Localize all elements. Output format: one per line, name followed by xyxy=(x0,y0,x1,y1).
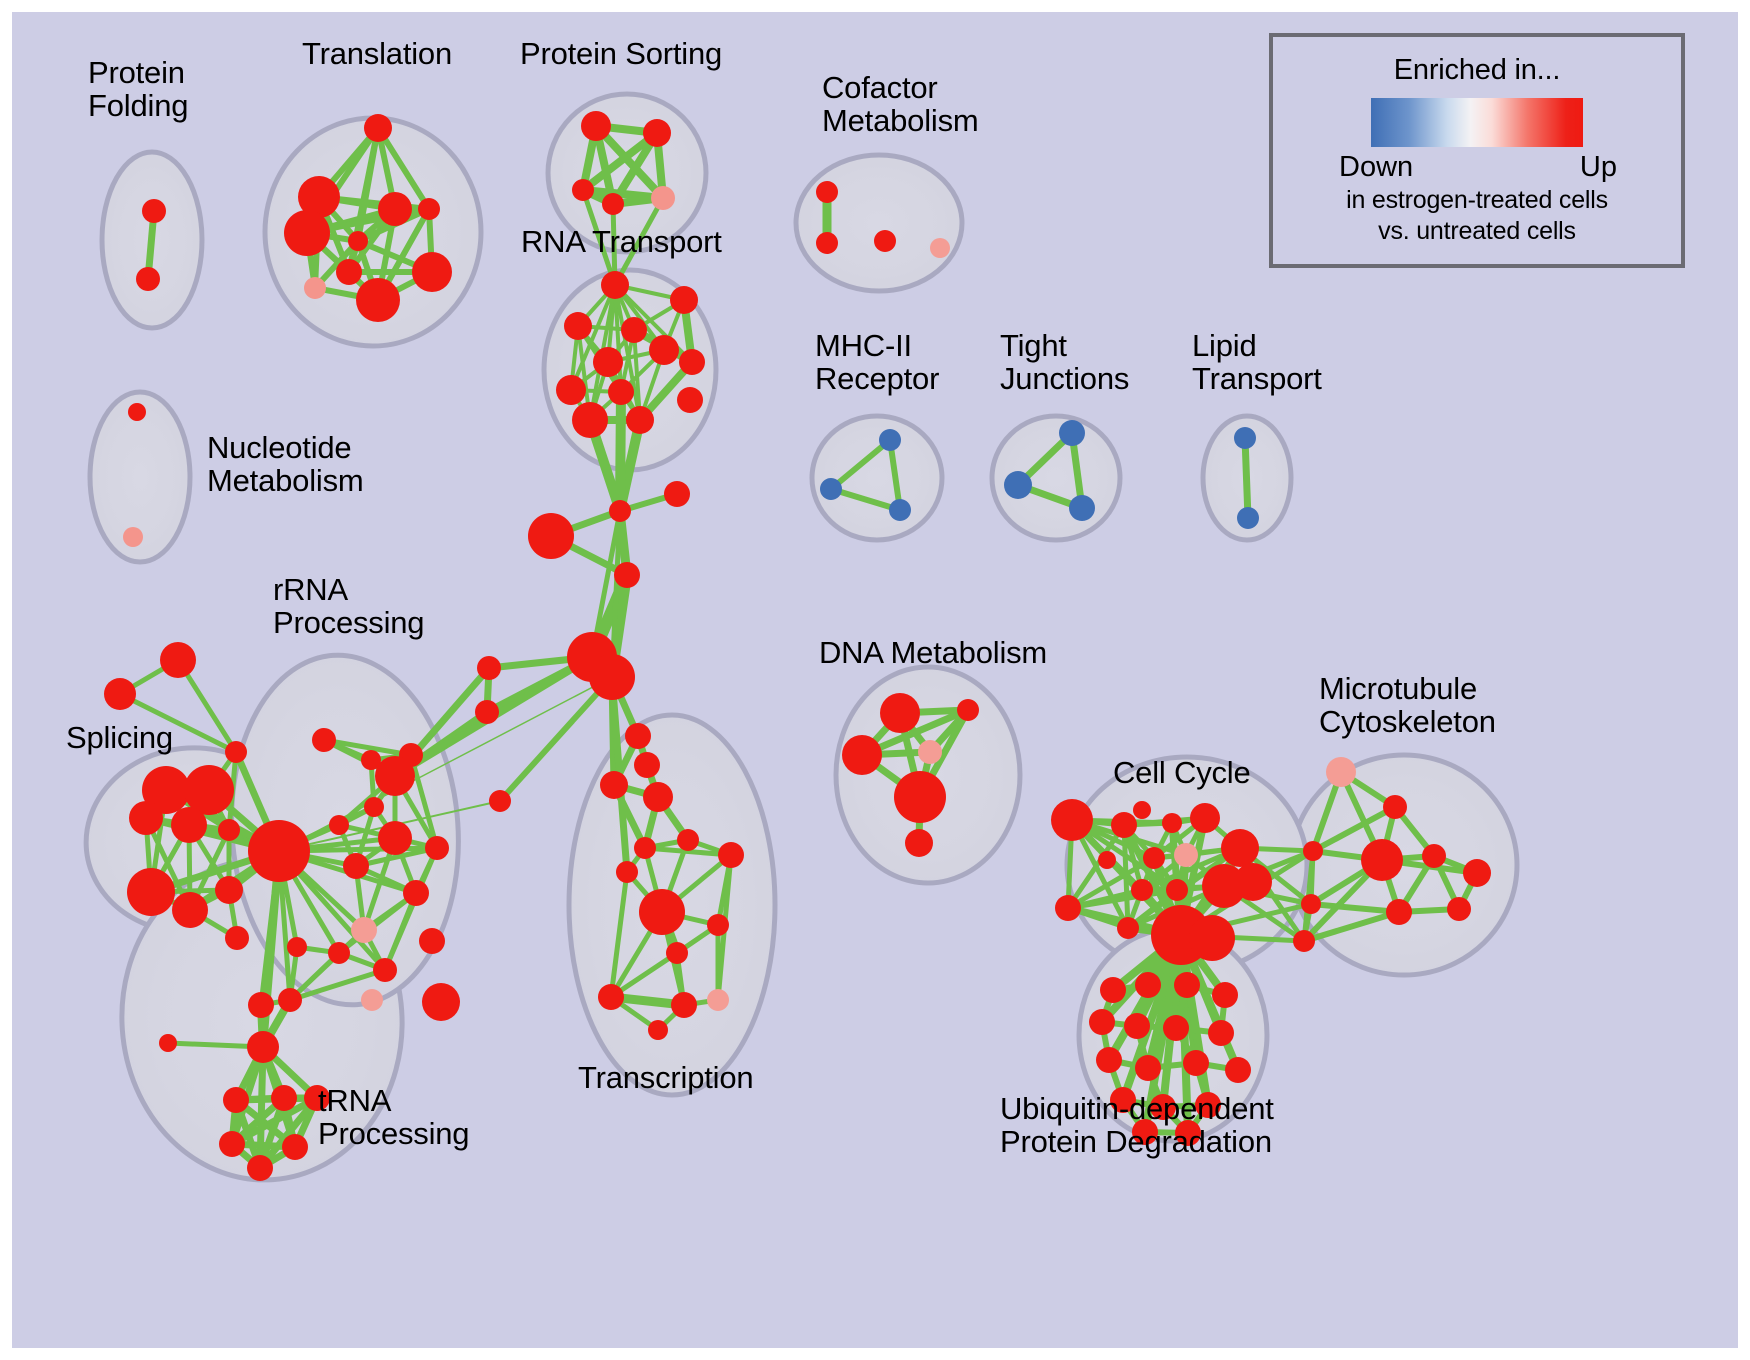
node xyxy=(336,259,362,285)
legend-subtitle-line2: vs. untreated cells xyxy=(1378,217,1576,246)
node xyxy=(1386,899,1412,925)
node xyxy=(247,1155,273,1181)
node xyxy=(677,387,703,413)
node xyxy=(648,1020,668,1040)
node xyxy=(218,819,240,841)
node xyxy=(905,829,933,857)
node xyxy=(215,876,243,904)
node xyxy=(609,500,631,522)
node xyxy=(1135,1055,1161,1081)
node xyxy=(348,231,368,251)
node xyxy=(670,286,698,314)
node xyxy=(643,782,673,812)
node xyxy=(664,481,690,507)
node xyxy=(677,829,699,851)
node xyxy=(128,403,146,421)
node xyxy=(1059,420,1085,446)
node xyxy=(364,114,392,142)
node xyxy=(364,797,384,817)
node xyxy=(589,654,635,700)
node xyxy=(1135,972,1161,998)
node xyxy=(894,771,946,823)
node xyxy=(1069,495,1095,521)
node xyxy=(880,693,920,733)
node xyxy=(1234,863,1272,901)
cluster-label-cofactor-metabolism: Cofactor Metabolism xyxy=(822,72,979,138)
cluster-label-cell-cycle: Cell Cycle xyxy=(1113,757,1251,790)
node xyxy=(820,478,842,500)
node xyxy=(679,349,705,375)
node xyxy=(1131,879,1153,901)
node xyxy=(104,678,136,710)
node xyxy=(223,1087,249,1113)
legend-subtitle-line1: in estrogen-treated cells xyxy=(1346,186,1608,215)
node xyxy=(1463,859,1491,887)
cluster-label-ubiquitin-degradation: Ubiquitin-dependent Protein Degradation xyxy=(1000,1093,1274,1159)
node xyxy=(312,728,336,752)
node xyxy=(356,278,400,322)
node xyxy=(1301,894,1321,914)
node xyxy=(1190,803,1220,833)
node xyxy=(643,119,671,147)
node xyxy=(1303,841,1323,861)
node xyxy=(1212,982,1238,1008)
node xyxy=(1225,1057,1251,1083)
node xyxy=(1174,843,1198,867)
hull-mhc xyxy=(812,416,942,540)
cluster-label-lipid-transport: Lipid Transport xyxy=(1192,330,1322,396)
node xyxy=(598,984,624,1010)
node xyxy=(489,790,511,812)
legend-low-label: Down xyxy=(1339,151,1413,184)
node xyxy=(626,406,654,434)
node xyxy=(247,1031,279,1063)
node xyxy=(707,989,729,1011)
cluster-label-splicing: Splicing xyxy=(66,722,173,755)
node xyxy=(1111,812,1137,838)
node xyxy=(707,914,729,936)
node xyxy=(556,375,586,405)
node xyxy=(172,892,208,928)
color-legend: Enriched in... Down Up in estrogen-treat… xyxy=(1269,33,1685,268)
node xyxy=(1361,839,1403,881)
node xyxy=(1174,972,1200,998)
node xyxy=(639,889,685,935)
node xyxy=(581,111,611,141)
node xyxy=(159,1034,177,1052)
node xyxy=(1189,915,1235,961)
legend-endpoint-labels: Down Up xyxy=(1327,151,1627,184)
node xyxy=(625,723,651,749)
node xyxy=(219,1131,245,1157)
node xyxy=(879,429,901,451)
node xyxy=(1221,829,1259,867)
node xyxy=(1051,799,1093,841)
node xyxy=(425,836,449,860)
node xyxy=(1096,1047,1122,1073)
cluster-label-mhc-ii-receptor: MHC-II Receptor xyxy=(815,330,939,396)
node xyxy=(225,741,247,763)
node xyxy=(1098,851,1116,869)
node xyxy=(422,983,460,1021)
node xyxy=(343,853,369,879)
node xyxy=(225,926,249,950)
legend-high-label: Up xyxy=(1580,151,1617,184)
node xyxy=(600,771,628,799)
node xyxy=(1004,471,1032,499)
node xyxy=(373,958,397,982)
node xyxy=(284,210,330,256)
node xyxy=(1447,897,1471,921)
node xyxy=(129,801,163,835)
node xyxy=(593,347,623,377)
node xyxy=(666,942,688,964)
node xyxy=(649,335,679,365)
node xyxy=(304,277,326,299)
node xyxy=(351,917,377,943)
node xyxy=(329,815,349,835)
node xyxy=(602,193,624,215)
node xyxy=(634,837,656,859)
node xyxy=(282,1134,308,1160)
node xyxy=(328,942,350,964)
node xyxy=(142,199,166,223)
cluster-label-protein-folding: Protein Folding xyxy=(88,57,188,123)
node xyxy=(1162,813,1182,833)
node xyxy=(412,252,452,292)
node xyxy=(930,238,950,258)
node xyxy=(621,317,647,343)
node xyxy=(378,821,412,855)
node xyxy=(616,861,638,883)
node xyxy=(1100,977,1126,1003)
node xyxy=(271,1085,297,1111)
node xyxy=(842,735,882,775)
hull-cofactor xyxy=(796,155,962,291)
node xyxy=(375,756,415,796)
node xyxy=(278,988,302,1012)
node xyxy=(1208,1020,1234,1046)
node xyxy=(1163,1015,1189,1041)
cluster-label-tight-junctions: Tight Junctions xyxy=(1000,330,1129,396)
cluster-label-nucleotide-metabolism: Nucleotide Metabolism xyxy=(207,432,364,498)
node xyxy=(1383,795,1407,819)
node xyxy=(287,937,307,957)
cluster-label-translation: Translation xyxy=(302,38,452,71)
node xyxy=(957,699,979,721)
node xyxy=(718,842,744,868)
node xyxy=(1237,507,1259,529)
node xyxy=(123,527,143,547)
node xyxy=(614,562,640,588)
node xyxy=(1422,844,1446,868)
node xyxy=(889,499,911,521)
node xyxy=(816,232,838,254)
node xyxy=(477,656,501,680)
node xyxy=(1055,895,1081,921)
node xyxy=(419,928,445,954)
figure-canvas: Protein Folding Translation Protein Sort… xyxy=(0,0,1750,1360)
node xyxy=(1293,930,1315,952)
node xyxy=(1089,1009,1115,1035)
node xyxy=(1326,757,1356,787)
cluster-label-microtubule-cytoskeleton: Microtubule Cytoskeleton xyxy=(1319,673,1496,739)
cluster-label-protein-sorting: Protein Sorting xyxy=(520,38,722,71)
node xyxy=(136,267,160,291)
node xyxy=(528,513,574,559)
node xyxy=(248,992,274,1018)
cluster-label-transcription: Transcription xyxy=(578,1062,753,1095)
legend-title: Enriched in... xyxy=(1394,54,1560,87)
cluster-label-dna-metabolism: DNA Metabolism xyxy=(819,637,1047,670)
node xyxy=(1143,847,1165,869)
cluster-label-trna-processing: tRNA Processing xyxy=(318,1085,469,1151)
node xyxy=(1124,1013,1150,1039)
node xyxy=(171,807,207,843)
node xyxy=(160,642,196,678)
node xyxy=(816,181,838,203)
node xyxy=(248,820,310,882)
node xyxy=(572,402,608,438)
node xyxy=(1133,801,1151,819)
node xyxy=(403,880,429,906)
node xyxy=(601,271,629,299)
node xyxy=(572,179,594,201)
node xyxy=(1166,879,1188,901)
node xyxy=(1117,917,1139,939)
node xyxy=(608,379,634,405)
node xyxy=(634,752,660,778)
node xyxy=(918,740,942,764)
cluster-label-rna-transport: RNA Transport xyxy=(521,226,722,259)
node xyxy=(1234,427,1256,449)
node xyxy=(361,989,383,1011)
node xyxy=(418,198,440,220)
node xyxy=(671,992,697,1018)
node xyxy=(874,230,896,252)
cluster-label-rrna-processing: rRNA Processing xyxy=(273,574,424,640)
legend-color-gradient-bar xyxy=(1371,98,1583,147)
node xyxy=(564,312,592,340)
node xyxy=(475,700,499,724)
node xyxy=(1183,1050,1209,1076)
node xyxy=(651,186,675,210)
node xyxy=(127,868,175,916)
node xyxy=(378,192,412,226)
